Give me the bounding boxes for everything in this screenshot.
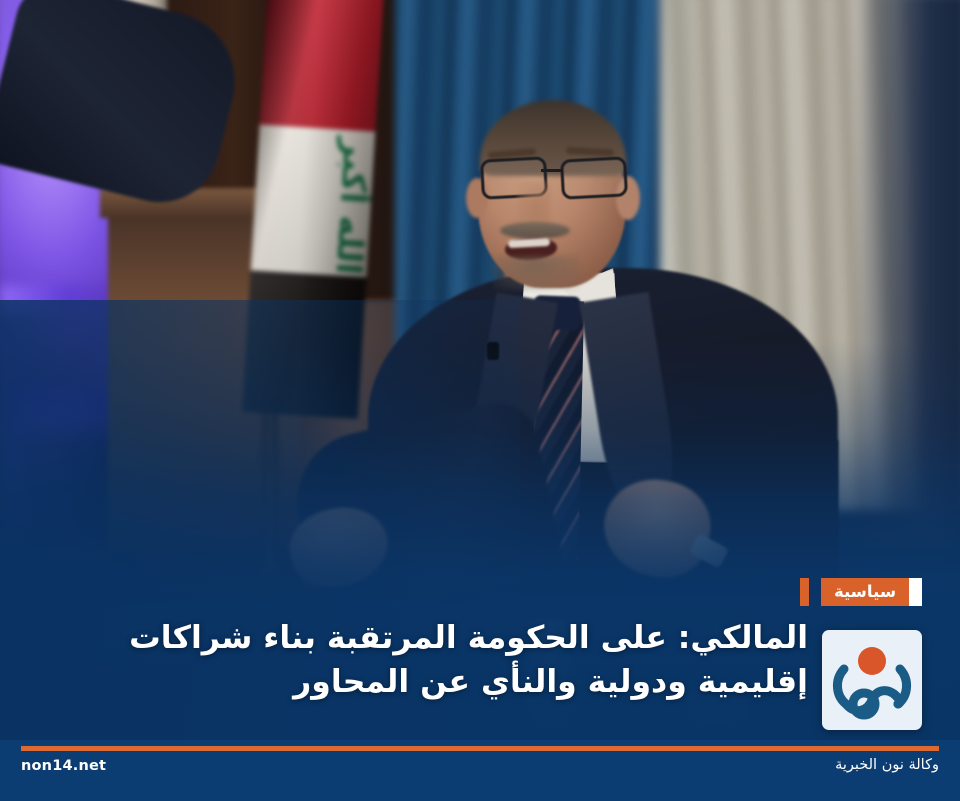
logo-orange-circle — [858, 647, 886, 675]
footer-agency-name: وكالة نون الخبرية — [835, 757, 939, 773]
category-badge[interactable]: سياسية — [800, 578, 922, 606]
news-card: الله أكبر — [0, 0, 960, 801]
noon-logo-icon — [822, 630, 922, 730]
badge-white-bar — [909, 578, 922, 606]
agency-logo[interactable] — [822, 630, 922, 730]
footer-bar: non14.net وكالة نون الخبرية — [0, 740, 960, 801]
badge-gap — [815, 578, 821, 606]
badge-orange-tick — [800, 578, 809, 606]
logo-left-arc — [837, 669, 846, 704]
badge-label: سياسية — [821, 578, 909, 606]
headline-text: المالكي: على الحكومة المرتقبة بناء شراكا… — [102, 616, 808, 705]
footer-site-url[interactable]: non14.net — [21, 758, 106, 774]
footer-orange-rule — [21, 746, 939, 751]
